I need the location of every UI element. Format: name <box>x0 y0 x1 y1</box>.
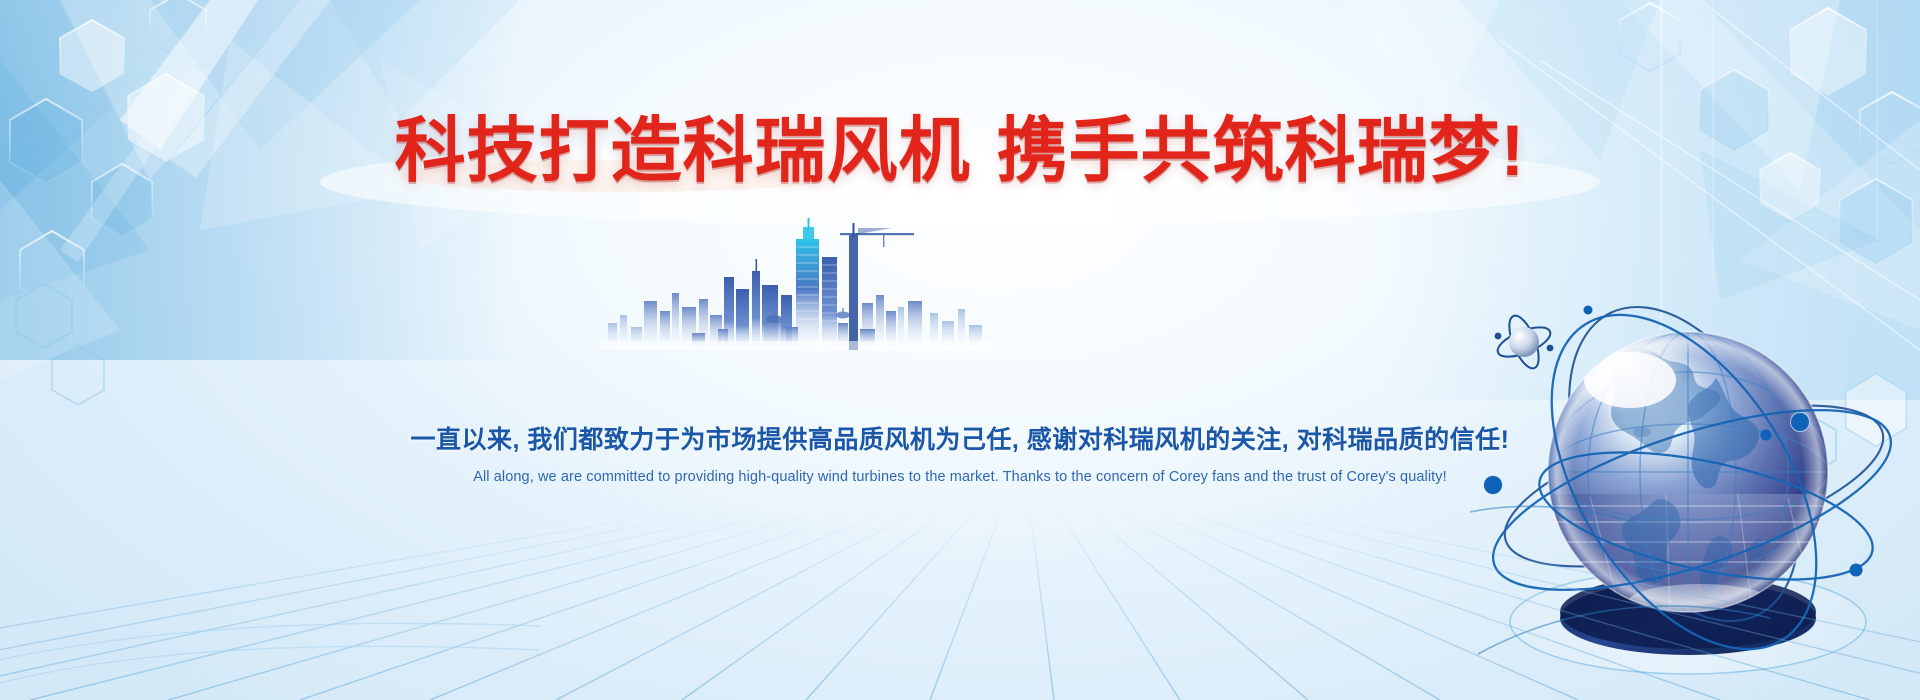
hexagon-pattern <box>0 0 1920 700</box>
left-accent-lines <box>0 500 540 700</box>
orbit-ring-back <box>1489 270 1900 658</box>
perspective-floor-grid <box>0 500 1920 700</box>
headline-segment-1: 科技打造科瑞风机 <box>395 112 971 191</box>
city-skyline-illustration <box>600 215 990 350</box>
globe-base-disc <box>1510 570 1866 674</box>
subtitle-chinese: 一直以来, 我们都致力于为市场提供高品质风机为己任, 感谢对科瑞风机的关注, 对… <box>0 420 1920 456</box>
promo-banner: 科技打造科瑞风机携手共筑科瑞梦! 一直以来, 我们都致力于为市场提供高品质风机为… <box>0 0 1920 700</box>
page-title: 科技打造科瑞风机携手共筑科瑞梦! <box>0 114 1920 191</box>
headline-segment-2: 携手共筑科瑞梦! <box>997 112 1526 191</box>
subtitle-english: All along, we are committed to providing… <box>0 469 1920 485</box>
satellite-icon <box>1494 312 1554 372</box>
